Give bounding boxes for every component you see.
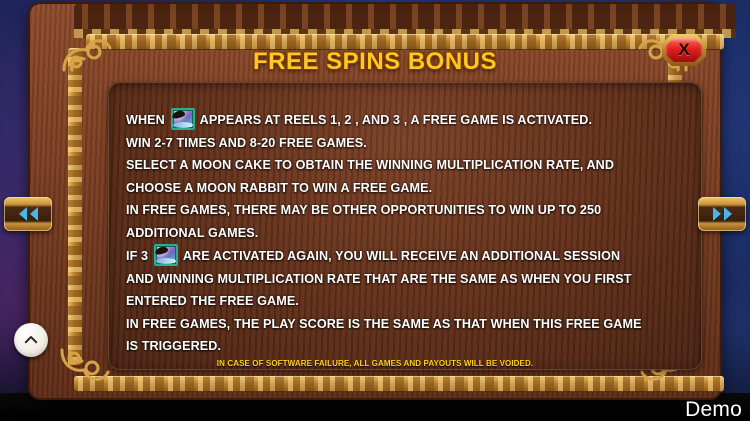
scatter-symbol-icon: [171, 108, 195, 130]
text-fragment: WHEN: [126, 113, 165, 127]
close-button[interactable]: X: [662, 34, 706, 66]
close-icon: X: [662, 34, 706, 66]
disclaimer-text: IN CASE OF SOFTWARE FAILURE, ALL GAMES A…: [30, 359, 720, 368]
text-fragment: IF 3: [126, 249, 148, 263]
roof-eaves: [74, 4, 736, 38]
scroll-up-button[interactable]: [14, 323, 48, 357]
paytable-frame: FREE SPINS BONUS WHEN APPEARS AT REELS 1…: [30, 4, 720, 398]
text-line: IS TRIGGERED.: [126, 335, 692, 358]
text-line: CHOOSE A MOON RABBIT TO WIN A FREE GAME.: [126, 177, 692, 200]
double-chevron-right-icon: [698, 197, 746, 231]
scatter-symbol-icon: [154, 244, 178, 266]
next-page-button[interactable]: [698, 197, 746, 231]
chevron-up-icon: [22, 331, 40, 349]
ornament-band-left: [68, 48, 82, 366]
text-line: IN FREE GAMES, THE PLAY SCORE IS THE SAM…: [126, 313, 692, 336]
text-line: IF 3 ARE ACTIVATED AGAIN, YOU WILL RECEI…: [126, 244, 692, 268]
text-fragment: APPEARS AT REELS 1, 2 , AND 3 , A FREE G…: [200, 113, 592, 127]
text-line: ADDITIONAL GAMES.: [126, 222, 692, 245]
text-line: WHEN APPEARS AT REELS 1, 2 , AND 3 , A F…: [126, 108, 692, 132]
text-line: SELECT A MOON CAKE TO OBTAIN THE WINNING…: [126, 154, 692, 177]
text-line: ENTERED THE FREE GAME.: [126, 290, 692, 313]
text-fragment: ARE ACTIVATED AGAIN, YOU WILL RECEIVE AN…: [183, 249, 620, 263]
double-chevron-left-icon: [4, 197, 52, 231]
text-line: WIN 2-7 TIMES AND 8-20 FREE GAMES.: [126, 132, 692, 155]
text-line: IN FREE GAMES, THERE MAY BE OTHER OPPORT…: [126, 199, 692, 222]
paytable-description: WHEN APPEARS AT REELS 1, 2 , AND 3 , A F…: [126, 108, 692, 358]
ornament-band-bottom: [74, 376, 724, 392]
page-title: FREE SPINS BONUS: [30, 48, 720, 76]
text-line: AND WINNING MULTIPLICATION RATE THAT ARE…: [126, 268, 692, 291]
demo-mode-label: Demo: [685, 398, 742, 421]
game-screen: FREE SPINS BONUS WHEN APPEARS AT REELS 1…: [0, 0, 750, 421]
previous-page-button[interactable]: [4, 197, 52, 231]
